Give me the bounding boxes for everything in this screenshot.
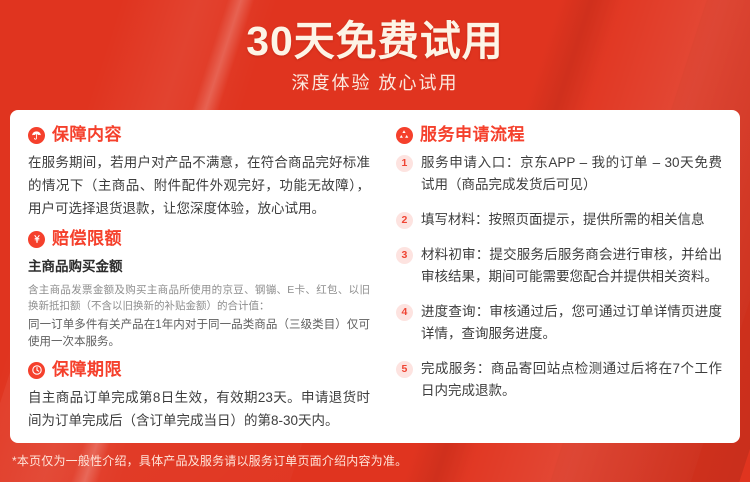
- list-item: 4 进度查询：审核通过后，您可通过订单详情页进度详情，查询服务进度。: [396, 301, 722, 345]
- step-number: 1: [396, 155, 413, 172]
- yen-icon: [28, 231, 45, 248]
- step-text: 进度查询：审核通过后，您可通过订单详情页进度详情，查询服务进度。: [421, 301, 722, 345]
- left-column: 保障内容 在服务期间，若用户对产品不满意，在符合商品完好标准的情况下（主商品、附…: [28, 122, 384, 433]
- page-subtitle: 深度体验 放心试用: [0, 65, 750, 95]
- section-title: 保障内容: [52, 124, 122, 146]
- compensation-fine-print-1: 含主商品发票金额及购买主商品所使用的京豆、钢镚、E卡、红包、以旧换新抵扣额（不含…: [28, 282, 370, 314]
- compensation-subhead: 主商品购买金额: [28, 255, 370, 278]
- list-item: 3 材料初审：提交服务后服务商会进行审核，并给出审核结果，期间可能需要您配合并提…: [396, 244, 722, 288]
- duration-paragraph: 自主商品订单完成第8日生效，有效期23天。申请退货时间为订单完成后（含订单完成当…: [28, 386, 370, 432]
- content-card: 保障内容 在服务期间，若用户对产品不满意，在符合商品完好标准的情况下（主商品、附…: [10, 110, 740, 443]
- section-header-coverage: 保障内容: [28, 124, 370, 146]
- right-column: 服务申请流程 1 服务申请入口：京东APP – 我的订单 – 30天免费试用（商…: [384, 122, 722, 433]
- section-header-process: 服务申请流程: [396, 124, 722, 146]
- list-item: 5 完成服务：商品寄回站点检测通过后将在7个工作日内完成退款。: [396, 358, 722, 402]
- footer-disclaimer: *本页仅为一般性介绍，具体产品及服务请以服务订单页面介绍内容为准。: [12, 452, 407, 470]
- recycle-icon: [396, 127, 413, 144]
- section-title: 保障期限: [52, 359, 122, 381]
- step-number: 5: [396, 361, 413, 378]
- section-header-compensation: 赔偿限额: [28, 228, 370, 250]
- promo-page: 30天免费试用 深度体验 放心试用 保障内容 在服务期间，若用户对产品不满意，在…: [0, 0, 750, 482]
- page-title: 30天免费试用: [0, 0, 750, 65]
- compensation-fine-print-2: 同一订单多件有关产品在1年内对于同一品类商品（三级类目）仅可使用一次本服务。: [28, 317, 370, 351]
- step-text: 服务申请入口：京东APP – 我的订单 – 30天免费试用（商品完成发货后可见）: [421, 152, 722, 196]
- section-title: 赔偿限额: [52, 228, 122, 250]
- step-number: 4: [396, 304, 413, 321]
- list-item: 1 服务申请入口：京东APP – 我的订单 – 30天免费试用（商品完成发货后可…: [396, 152, 722, 196]
- step-text: 完成服务：商品寄回站点检测通过后将在7个工作日内完成退款。: [421, 358, 722, 402]
- umbrella-icon: [28, 127, 45, 144]
- clock-icon: [28, 362, 45, 379]
- step-number: 2: [396, 212, 413, 229]
- list-item: 2 填写材料：按照页面提示，提供所需的相关信息: [396, 209, 722, 231]
- step-text: 材料初审：提交服务后服务商会进行审核，并给出审核结果，期间可能需要您配合并提供相…: [421, 244, 722, 288]
- step-text: 填写材料：按照页面提示，提供所需的相关信息: [421, 209, 705, 231]
- process-step-list: 1 服务申请入口：京东APP – 我的订单 – 30天免费试用（商品完成发货后可…: [396, 152, 722, 402]
- step-number: 3: [396, 247, 413, 264]
- coverage-paragraph: 在服务期间，若用户对产品不满意，在符合商品完好标准的情况下（主商品、附件配件外观…: [28, 151, 370, 220]
- section-title: 服务申请流程: [420, 124, 525, 146]
- page-header: 30天免费试用 深度体验 放心试用: [0, 0, 750, 108]
- section-header-duration: 保障期限: [28, 359, 370, 381]
